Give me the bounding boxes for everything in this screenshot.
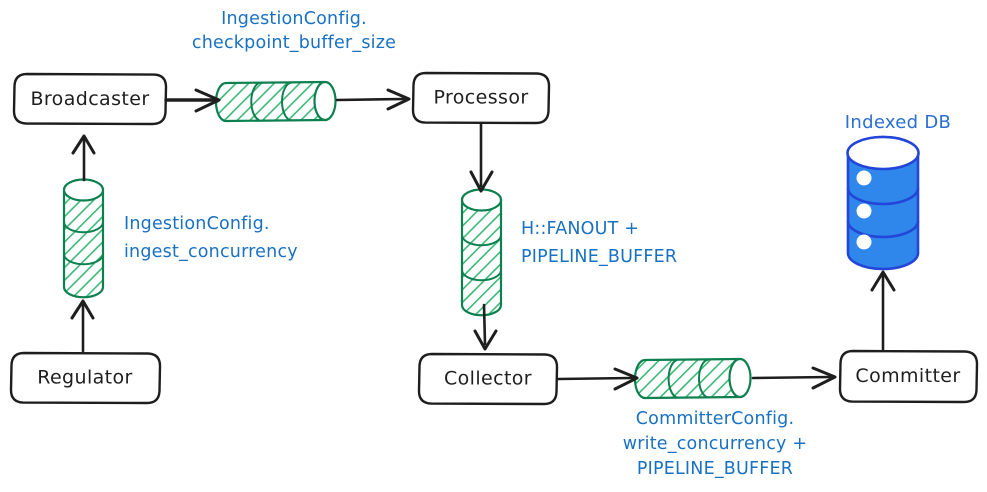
edge-checkpoint-buffer-to-processor [337, 90, 409, 109]
regulator-label: Regulator [37, 367, 133, 389]
edge-collector-to-write-buffer [558, 369, 637, 389]
indexed-db-top-cap [848, 137, 919, 169]
node-committer[interactable]: Committer [840, 351, 977, 402]
annotation-fanout-buffer: H::FANOUT + PIPELINE_BUFFER [521, 219, 677, 267]
edge-regulator-to-ingest-buffer [72, 301, 93, 351]
edge-line [337, 99, 404, 100]
indexed-db-indicator-dot-1 [857, 171, 872, 186]
edge-committer-to-indexed-db [872, 272, 894, 349]
edge-line [558, 378, 632, 379]
indexed-db-indicator-dot-3 [857, 235, 872, 250]
collector-label: Collector [444, 368, 532, 390]
edge-write-buffer-to-committer [753, 368, 835, 388]
ingest-buffer-cap [64, 180, 103, 201]
annotation-write-buffer: CommitterConfig. write_concurrency + PIP… [623, 409, 807, 479]
edge-line [484, 305, 485, 344]
buffer-write[interactable] [635, 359, 751, 398]
diagram-canvas: Broadcaster Processor Regulator Collecto… [0, 0, 987, 492]
write-buffer-cap [730, 359, 751, 397]
fanout-buffer-cap [462, 190, 501, 211]
annotation-ingest-buffer: IngestionConfig. ingest_concurrency [124, 214, 298, 262]
annotation-line: ingest_concurrency [124, 242, 298, 262]
buffer-checkpoint[interactable] [216, 82, 336, 121]
node-collector[interactable]: Collector [419, 354, 557, 404]
annotation-checkpoint-buffer: IngestionConfig. checkpoint_buffer_size [192, 9, 396, 53]
annotation-line: write_concurrency + [623, 434, 807, 454]
edge-ingest-buffer-to-broadcaster [73, 136, 94, 180]
annotation-line: IngestionConfig. [124, 214, 270, 234]
annotation-line: checkpoint_buffer_size [192, 33, 396, 53]
edge-broadcaster-to-checkpoint-buffer [166, 90, 219, 111]
broadcaster-label: Broadcaster [30, 88, 149, 110]
annotation-line: CommitterConfig. [636, 409, 794, 429]
annotation-line: H::FANOUT + [521, 219, 639, 239]
buffer-fanout[interactable] [462, 190, 501, 316]
pipeline-diagram: Broadcaster Processor Regulator Collecto… [0, 0, 987, 492]
edge-processor-to-fanout-buffer [471, 124, 492, 191]
annotation-line: PIPELINE_BUFFER [521, 247, 677, 267]
edge-line [753, 377, 830, 378]
indexed-db-indicator-dot-2 [857, 204, 872, 219]
indexed-db-label: Indexed DB [845, 112, 951, 133]
buffer-ingest[interactable] [64, 180, 103, 298]
node-regulator[interactable]: Regulator [11, 353, 160, 403]
node-processor[interactable]: Processor [413, 73, 549, 123]
annotation-line: IngestionConfig. [221, 9, 367, 29]
indexed-db[interactable]: Indexed DB [845, 112, 951, 269]
annotation-line: PIPELINE_BUFFER [637, 459, 793, 479]
node-broadcaster[interactable]: Broadcaster [14, 74, 166, 124]
processor-label: Processor [433, 87, 528, 109]
checkpoint-buffer-cap [315, 82, 336, 120]
committer-label: Committer [855, 365, 960, 387]
